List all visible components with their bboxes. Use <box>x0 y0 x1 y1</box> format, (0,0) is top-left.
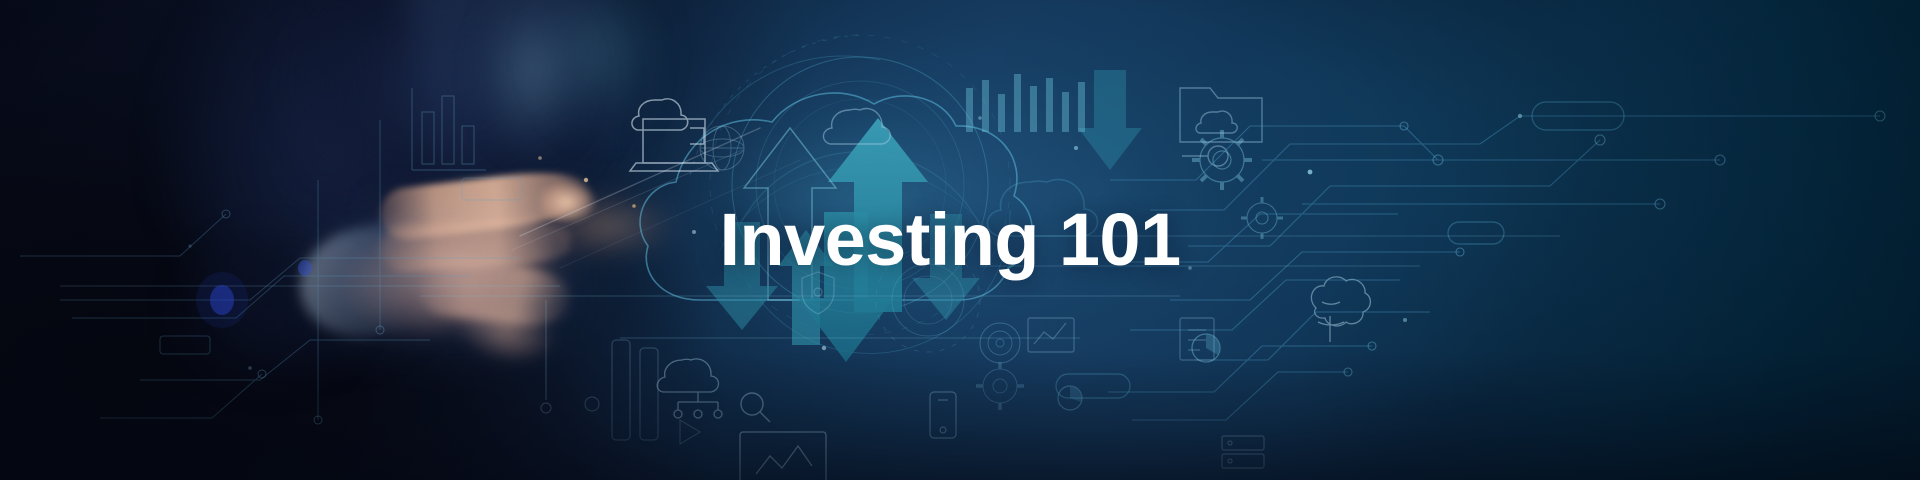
bar-chart-small-left <box>412 88 486 170</box>
blue-orb <box>196 260 312 328</box>
server-icon <box>1222 436 1264 468</box>
gear-icon-large <box>1192 130 1252 190</box>
monitor-icon <box>740 432 826 480</box>
circuit-traces-left <box>20 120 520 420</box>
brain-icon <box>1311 277 1370 342</box>
gear-icon-small <box>1241 197 1283 239</box>
magnifier-icon <box>741 393 770 422</box>
circuit-traces-right <box>1108 116 1880 420</box>
circuit-nodes-left <box>222 210 384 424</box>
pie-chart-icon <box>1192 334 1220 362</box>
cloud-network-icon <box>657 359 722 418</box>
hero-banner: Investing 101 <box>0 0 1920 480</box>
circuit-pad-left <box>160 178 522 354</box>
tech-overlay <box>0 0 1920 480</box>
circuit-nodes-right <box>1344 111 1885 376</box>
phone-icon <box>930 392 956 438</box>
